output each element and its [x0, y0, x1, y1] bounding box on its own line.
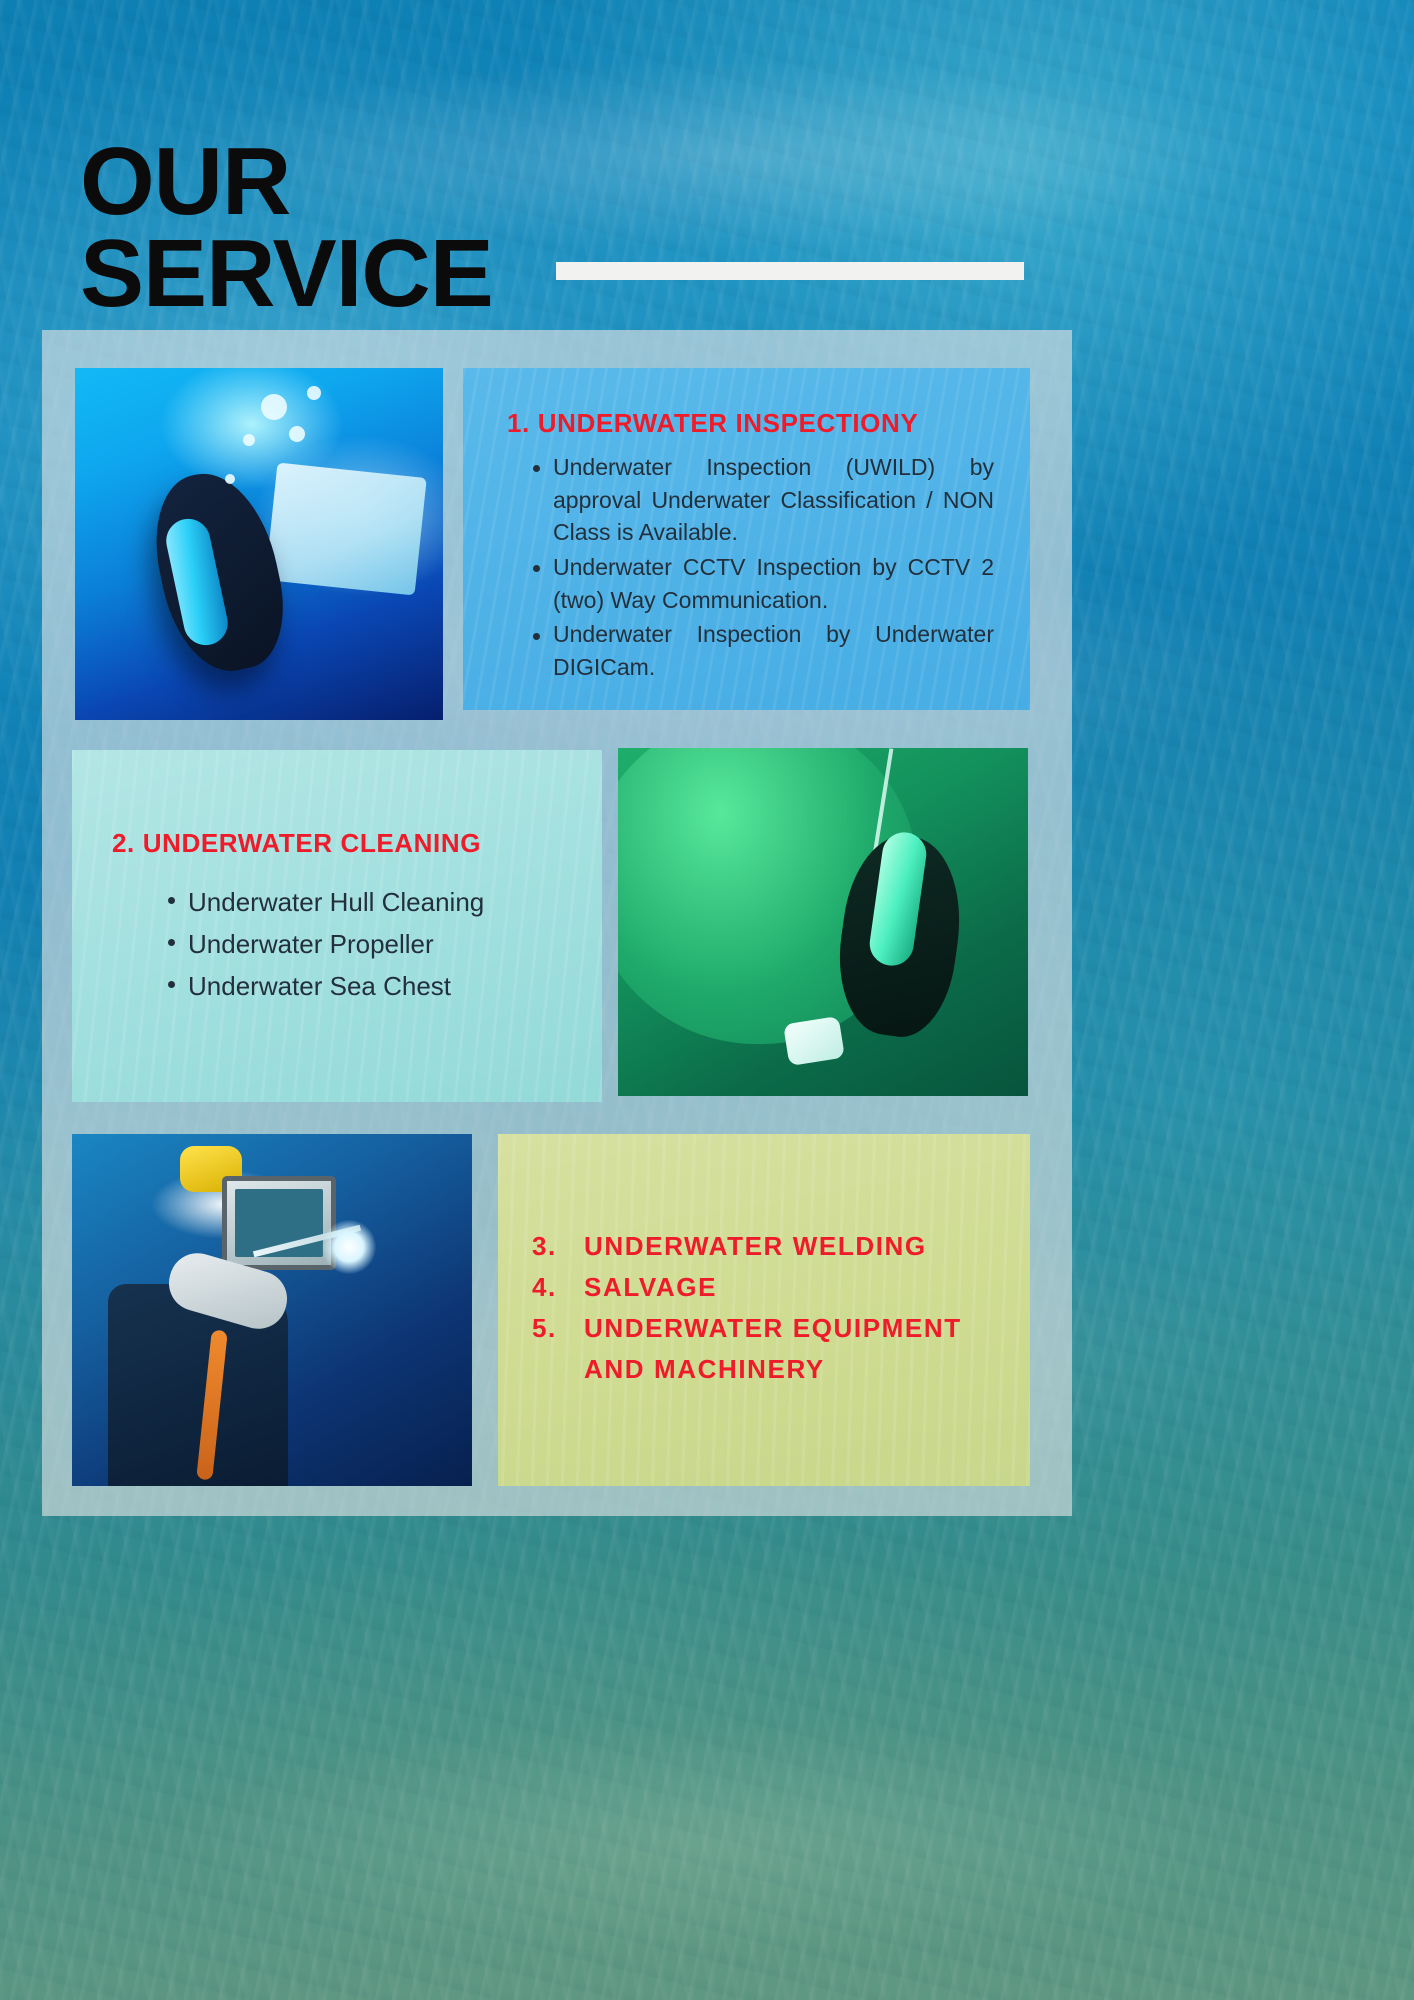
service-1-bullet-list: Underwater Inspection (UWILD) by approva… — [527, 451, 994, 684]
service-2-number: 2. — [112, 828, 135, 858]
welding-arc-flash — [322, 1220, 376, 1274]
background-wave-highlight — [0, 1700, 1414, 1980]
service-3-photo — [72, 1134, 472, 1486]
list-item: Underwater Inspection by Underwater DIGI… — [527, 618, 994, 683]
page-title: OUR SERVICE — [80, 136, 493, 318]
service-1-heading: 1. UNDERWATER INSPECTIONY — [507, 408, 994, 439]
bubble — [261, 394, 287, 420]
service-2-heading-label: UNDERWATER CLEANING — [143, 828, 481, 858]
bubble — [289, 426, 305, 442]
equipment-box — [222, 1176, 336, 1270]
service-2-heading: 2. UNDERWATER CLEANING — [112, 828, 572, 859]
item-number: 3. — [532, 1226, 558, 1267]
list-item: Underwater Inspection (UWILD) by approva… — [527, 451, 994, 549]
service-3-card: 3. UNDERWATER WELDING 4. SALVAGE 5. UNDE… — [498, 1134, 1030, 1486]
bubble — [243, 434, 255, 446]
service-3-numbered-list: 3. UNDERWATER WELDING 4. SALVAGE 5. UNDE… — [532, 1226, 1004, 1390]
service-1-card: 1. UNDERWATER INSPECTIONY Underwater Ins… — [463, 368, 1030, 710]
poster-canvas: OUR SERVICE 1. UNDERWATER INSPECTIONY Un… — [0, 0, 1414, 2000]
item-label: SALVAGE — [584, 1267, 1004, 1308]
list-item: 4. SALVAGE — [532, 1267, 1004, 1308]
list-item: Underwater Hull Cleaning — [162, 881, 572, 923]
service-1-photo — [75, 368, 443, 720]
item-number: 4. — [532, 1267, 558, 1308]
service-1-number: 1. — [507, 408, 530, 438]
list-item: Underwater CCTV Inspection by CCTV 2 (tw… — [527, 551, 994, 616]
service-2-bullet-list: Underwater Hull Cleaning Underwater Prop… — [162, 881, 572, 1007]
list-item: 3. UNDERWATER WELDING — [532, 1226, 1004, 1267]
diver-glove — [783, 1016, 845, 1066]
item-number: 5. — [532, 1308, 558, 1390]
item-label: UNDERWATER EQUIPMENT AND MACHINERY — [584, 1308, 1004, 1390]
list-item: Underwater Sea Chest — [162, 965, 572, 1007]
service-2-photo — [618, 748, 1028, 1096]
photo-object — [265, 462, 427, 595]
item-label: UNDERWATER WELDING — [584, 1226, 1004, 1267]
service-1-heading-label: UNDERWATER INSPECTIONY — [538, 408, 919, 438]
service-2-card: 2. UNDERWATER CLEANING Underwater Hull C… — [72, 750, 602, 1102]
list-item: 5. UNDERWATER EQUIPMENT AND MACHINERY — [532, 1308, 1004, 1390]
bubble — [225, 474, 235, 484]
title-underline-rule — [556, 262, 1024, 280]
list-item: Underwater Propeller — [162, 923, 572, 965]
bubble — [307, 386, 321, 400]
title-line-2: SERVICE — [80, 228, 493, 319]
